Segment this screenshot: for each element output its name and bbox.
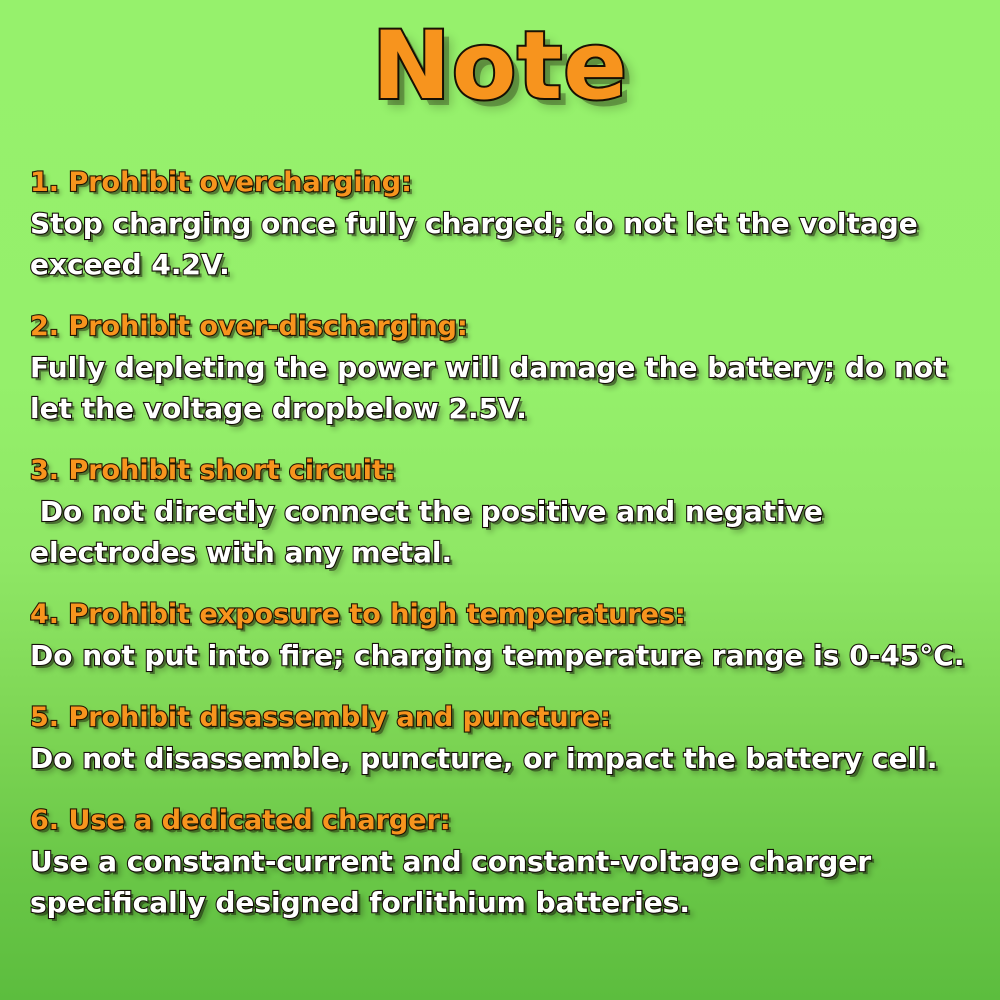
notes-list: 1. Prohibit overcharging:Stop charging o…	[30, 163, 980, 923]
note-item: 4. Prohibit exposure to high temperature…	[30, 595, 980, 676]
note-body-line: Use a constant-current and constant-volt…	[30, 841, 980, 882]
note-item: 6. Use a dedicated charger:Use a constan…	[30, 801, 980, 923]
note-heading: 3. Prohibit short circuit:	[30, 451, 980, 491]
note-body-line: Do not put into fire; charging temperatu…	[30, 635, 980, 676]
note-poster: Note 1. Prohibit overcharging:Stop charg…	[0, 0, 1000, 1000]
note-item: 2. Prohibit over-discharging:Fully deple…	[30, 307, 980, 429]
note-body: Stop charging once fully charged; do not…	[30, 203, 980, 285]
note-heading: 1. Prohibit overcharging:	[30, 163, 980, 203]
note-heading: 4. Prohibit exposure to high temperature…	[30, 595, 980, 635]
title-container: Note	[0, 18, 1000, 117]
note-body: Do not disassemble, puncture, or impact …	[30, 738, 980, 779]
note-body: Do not directly connect the positive and…	[30, 491, 980, 573]
note-item: 1. Prohibit overcharging:Stop charging o…	[30, 163, 980, 285]
note-body-line: specifically designed forlithium batteri…	[30, 882, 980, 923]
note-body-line: Do not directly connect the positive and…	[30, 491, 980, 532]
note-heading: 6. Use a dedicated charger:	[30, 801, 980, 841]
note-body: Fully depleting the power will damage th…	[30, 347, 980, 429]
note-body-line: Do not disassemble, puncture, or impact …	[30, 738, 980, 779]
note-heading: 5. Prohibit disassembly and puncture:	[30, 698, 980, 738]
note-item: 5. Prohibit disassembly and puncture:Do …	[30, 698, 980, 779]
note-body-line: Fully depleting the power will damage th…	[30, 347, 980, 388]
note-item: 3. Prohibit short circuit: Do not direct…	[30, 451, 980, 573]
note-body-line: Stop charging once fully charged; do not…	[30, 203, 980, 244]
note-body-line: let the voltage dropbelow 2.5V.	[30, 388, 980, 429]
page-title: Note	[372, 18, 628, 117]
note-body-line: electrodes with any metal.	[30, 532, 980, 573]
note-body-line: exceed 4.2V.	[30, 244, 980, 285]
note-heading: 2. Prohibit over-discharging:	[30, 307, 980, 347]
note-body: Do not put into fire; charging temperatu…	[30, 635, 980, 676]
note-body: Use a constant-current and constant-volt…	[30, 841, 980, 923]
